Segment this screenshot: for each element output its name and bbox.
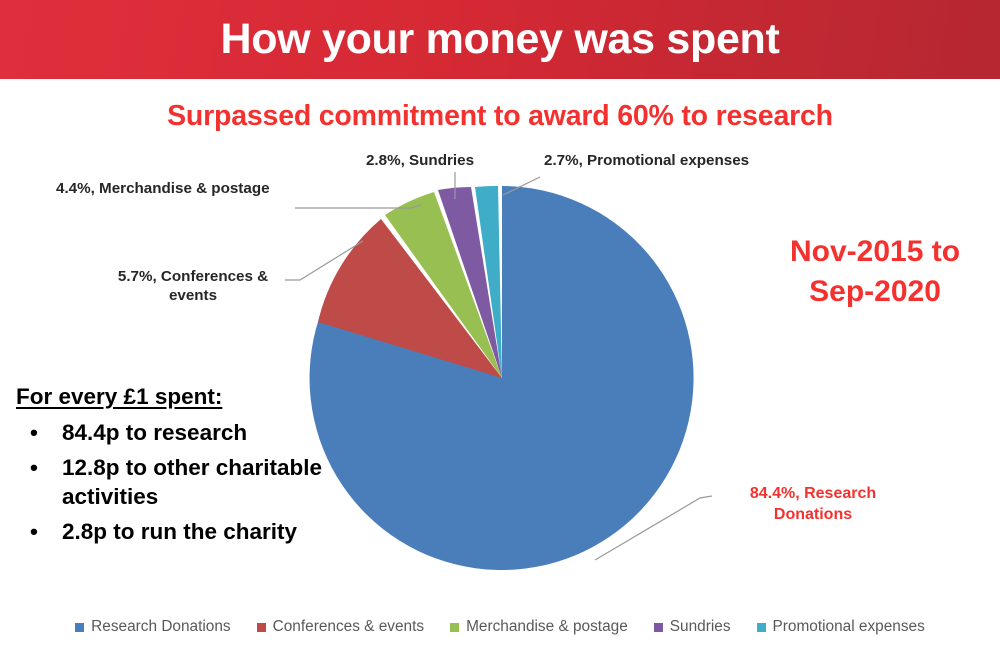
list-item: • 2.8p to run the charity: [16, 518, 346, 546]
spend-breakdown-heading: For every £1 spent:: [16, 384, 346, 410]
spend-breakdown-block: For every £1 spent: • 84.4p to research …: [16, 384, 346, 553]
legend-label: Research Donations: [91, 618, 230, 636]
bullet-glyph: •: [30, 419, 38, 447]
pie-chart: [0, 0, 1000, 669]
bullet-glyph: •: [30, 454, 38, 482]
list-item: • 84.4p to research: [16, 419, 346, 447]
data-label-merchandise-postage: 4.4%, Merchandise & postage: [56, 180, 316, 199]
spend-breakdown-list: • 84.4p to research • 12.8p to other cha…: [16, 419, 346, 546]
legend-label: Sundries: [670, 618, 731, 636]
legend-label: Promotional expenses: [773, 618, 925, 636]
legend-item-merchandise-postage[interactable]: Merchandise & postage: [450, 618, 628, 636]
data-label-sundries: 2.8%, Sundries: [330, 152, 510, 171]
bullet-glyph: •: [30, 518, 38, 546]
data-label-promotional-expenses: 2.7%, Promotional expenses: [544, 152, 794, 171]
slide-root: How your money was spent Surpassed commi…: [0, 0, 1000, 669]
data-label-research-donations: 84.4%, Research Donations: [718, 484, 908, 526]
legend-swatch-conferences-events: [257, 623, 266, 632]
legend-label: Conferences & events: [273, 618, 424, 636]
legend-item-sundries[interactable]: Sundries: [654, 618, 731, 636]
data-label-research-line1: 84.4%, Research: [718, 484, 908, 505]
legend-swatch-promotional-expenses: [757, 623, 766, 632]
data-label-research-line2: Donations: [718, 505, 908, 526]
chart-legend: Research Donations Conferences & events …: [0, 618, 1000, 636]
list-item-label: 84.4p to research: [62, 420, 247, 445]
legend-swatch-research-donations: [75, 623, 84, 632]
data-label-conferences-events: 5.7%, Conferences & events: [100, 268, 286, 305]
legend-item-research-donations[interactable]: Research Donations: [75, 618, 230, 636]
list-item: • 12.8p to other charitable activities: [16, 454, 346, 511]
legend-item-conferences-events[interactable]: Conferences & events: [257, 618, 424, 636]
list-item-label: 2.8p to run the charity: [62, 519, 297, 544]
legend-swatch-merchandise-postage: [450, 623, 459, 632]
list-item-label: 12.8p to other charitable activities: [62, 455, 322, 508]
data-label-conferences-line1: 5.7%, Conferences &: [100, 268, 286, 287]
legend-item-promotional-expenses[interactable]: Promotional expenses: [757, 618, 925, 636]
legend-swatch-sundries: [654, 623, 663, 632]
data-label-conferences-line2: events: [100, 287, 286, 306]
legend-label: Merchandise & postage: [466, 618, 628, 636]
